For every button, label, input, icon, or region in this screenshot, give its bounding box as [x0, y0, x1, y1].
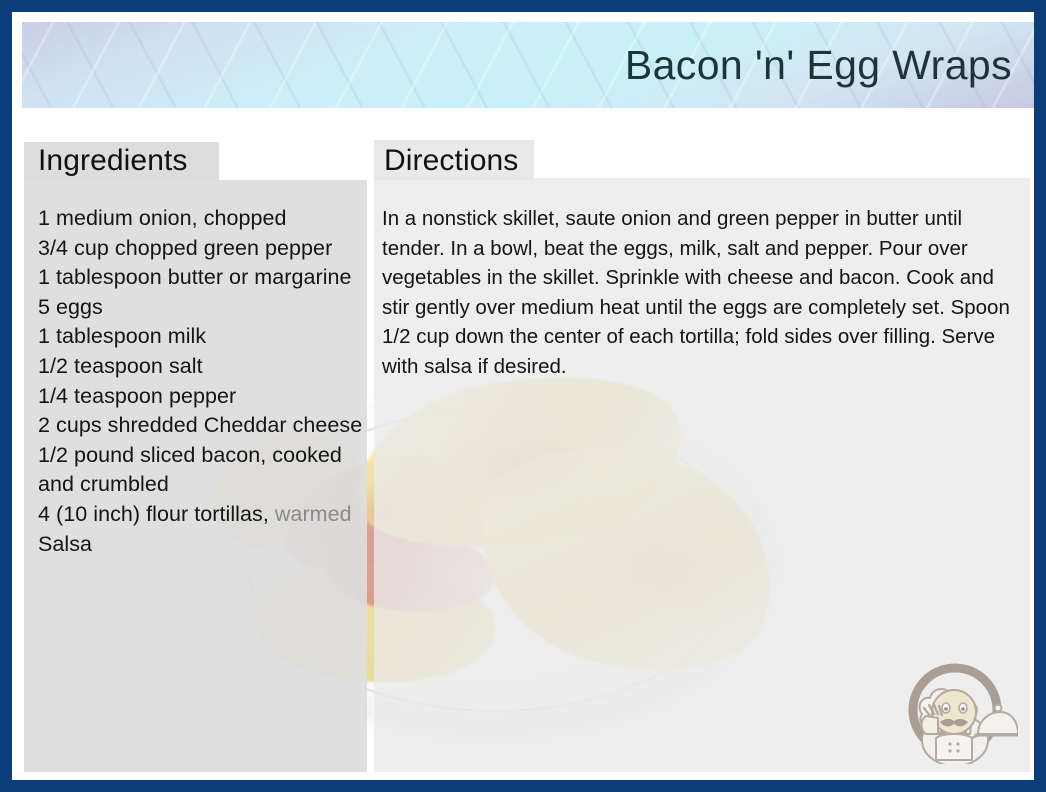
list-item: and crumbled [38, 470, 368, 500]
list-item-tortillas: 4 (10 inch) flour tortillas, warmed [38, 500, 368, 530]
page-title: Bacon 'n' Egg Wraps [625, 42, 1034, 89]
list-item: 1/2 teaspoon salt [38, 352, 368, 382]
list-item: 1 tablespoon milk [38, 322, 368, 352]
tortilla-separator: , [263, 502, 275, 526]
directions-heading: Directions [384, 144, 518, 178]
chef-mascot-icon [892, 638, 1018, 764]
list-item: 1 medium onion, chopped [38, 204, 368, 234]
list-item: 5 eggs [38, 293, 368, 323]
directions-text: In a nonstick skillet, saute onion and g… [382, 204, 1026, 381]
ingredients-list: 1 medium onion, chopped 3/4 cup chopped … [38, 204, 368, 559]
ingredients-heading: Ingredients [38, 144, 188, 178]
list-item: 1/4 teaspoon pepper [38, 382, 368, 412]
list-item: Salsa [38, 530, 368, 560]
list-item: 1 tablespoon butter or margarine [38, 263, 368, 293]
tortilla-main: 4 (10 inch) flour tortillas [38, 502, 263, 526]
list-item: 3/4 cup chopped green pepper [38, 234, 368, 264]
recipe-card: Bacon 'n' Egg Wraps Ingredients 1 medium… [0, 0, 1046, 792]
title-banner: Bacon 'n' Egg Wraps [22, 22, 1034, 108]
list-item: 1/2 pound sliced bacon, cooked [38, 441, 368, 471]
tortilla-muted: warmed [275, 502, 352, 526]
list-item: 2 cups shredded Cheddar cheese [38, 411, 368, 441]
